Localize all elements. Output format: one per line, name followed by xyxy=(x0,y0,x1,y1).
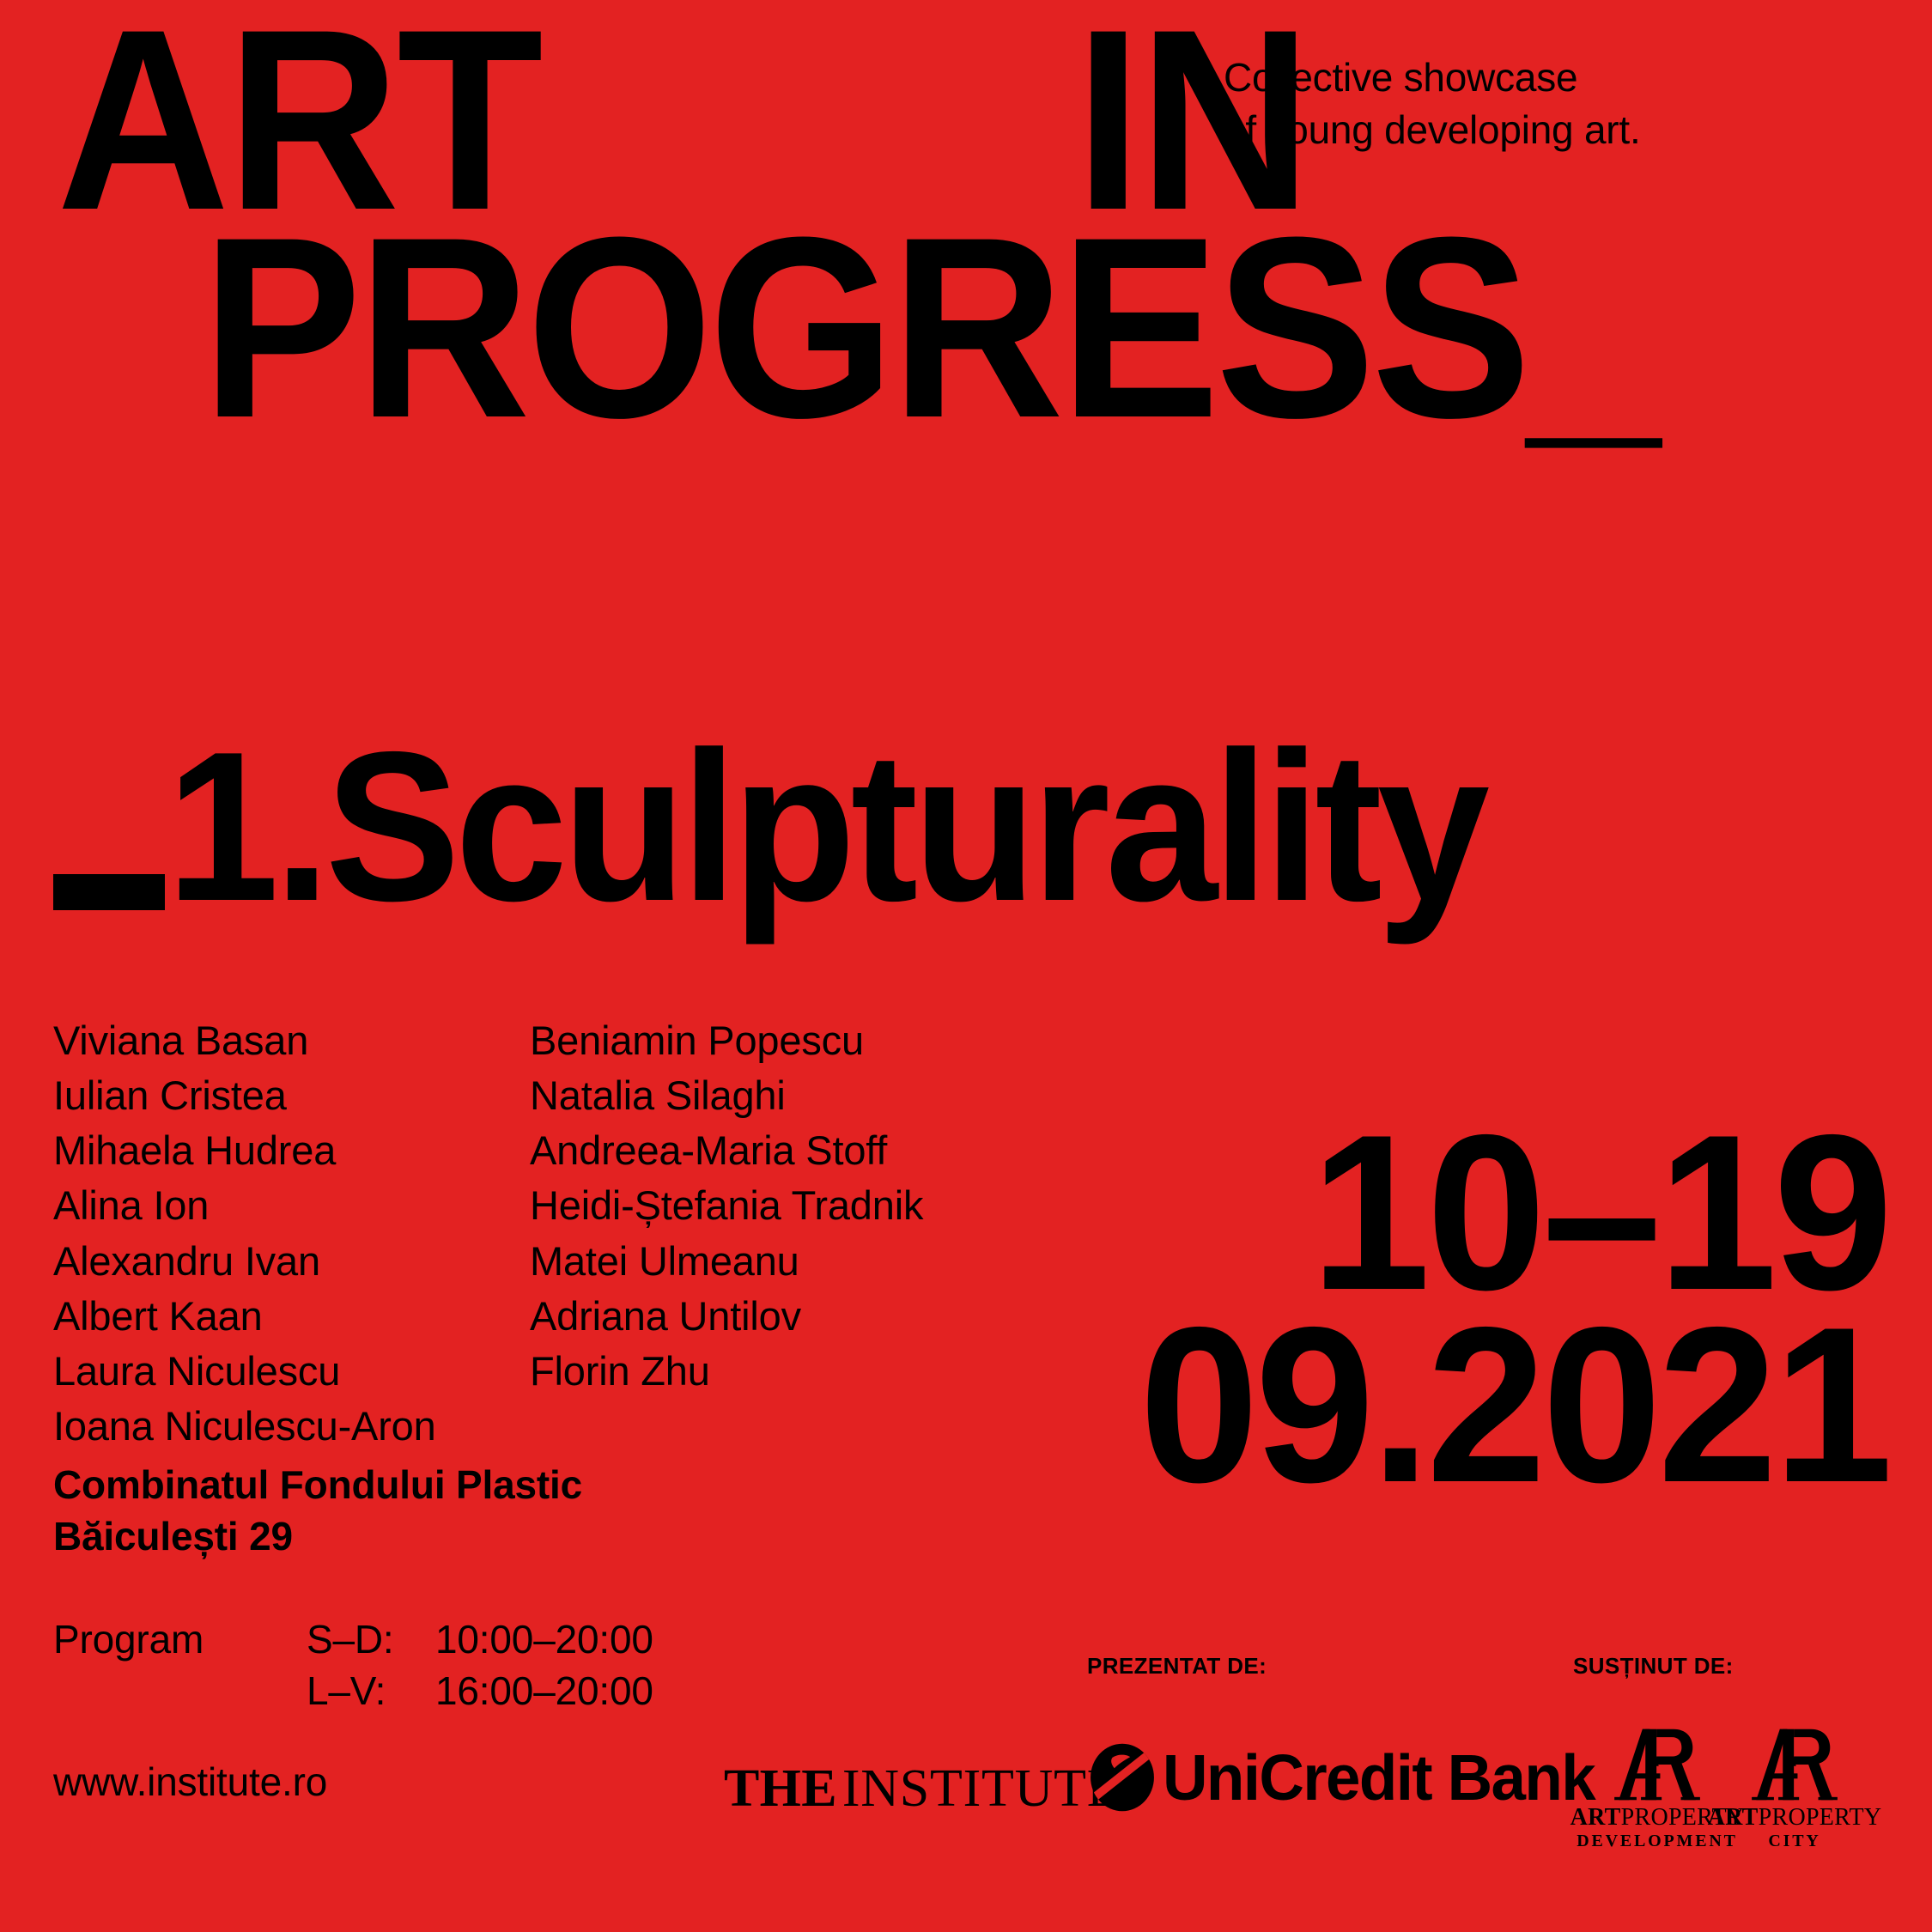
list-item: Laura Niculescu xyxy=(53,1344,530,1399)
artproperty-word-property: PROPERTY xyxy=(1759,1804,1882,1831)
the-institute-logo[interactable]: THEINSTITUTE xyxy=(724,1762,1120,1815)
list-item: Natalia Silaghi xyxy=(530,1068,1062,1123)
artist-column-1: Viviana Basan Iulian Cristea Mihaela Hud… xyxy=(53,1013,530,1454)
unicredit-wordmark: UniCredit Bank xyxy=(1163,1746,1595,1810)
supported-by-label: SUSȚINUT DE: xyxy=(1573,1653,1734,1680)
list-item: Andreea-Maria Stoff xyxy=(530,1123,1062,1178)
artproperty-word-art: ART xyxy=(1571,1804,1621,1831)
unicredit-mark-icon xyxy=(1089,1743,1156,1812)
artproperty-subtitle: CITY xyxy=(1696,1830,1893,1852)
underscore-rule-icon xyxy=(53,874,165,910)
list-item: Beniamin Popescu xyxy=(530,1013,1062,1068)
list-item: Iulian Cristea xyxy=(53,1068,530,1123)
list-item: Heidi-Ștefania Tradnik xyxy=(530,1178,1062,1233)
venue-info: Combinatul Fondului Plastic Băiculești 2… xyxy=(53,1460,582,1563)
subtitle-text: 1.Sculpturality xyxy=(167,720,1485,933)
venue-address: Băiculești 29 xyxy=(53,1511,582,1563)
date-month-year: 09.2021 xyxy=(1040,1309,1889,1501)
program-hours-1: 10:00–20:00 xyxy=(435,1614,653,1666)
title-word-progress: PROGRESS_ xyxy=(202,227,1656,428)
poster-canvas: ART IN PROGRESS_ Collective showcase of … xyxy=(0,0,1932,1932)
website-url[interactable]: www.institute.ro xyxy=(53,1759,327,1805)
list-item: Alexandru Ivan xyxy=(53,1234,530,1289)
tagline: Collective showcase of young developing … xyxy=(1224,52,1641,155)
institute-word-institute: INSTITUTE xyxy=(842,1759,1121,1818)
artproperty-monogram-icon xyxy=(1613,1728,1702,1801)
list-item: Alina Ion xyxy=(53,1178,530,1233)
list-item: Viviana Basan xyxy=(53,1013,530,1068)
program-hours-2: 16:00–20:00 xyxy=(435,1666,653,1717)
program-days-1: S–D: xyxy=(307,1614,435,1666)
institute-word-the: THE xyxy=(724,1759,837,1818)
list-item: Adriana Untilov xyxy=(530,1289,1062,1344)
program-days-2: L–V: xyxy=(307,1666,435,1717)
event-dates: 10–19 09.2021 xyxy=(1013,1116,1889,1502)
artproperty-monogram-icon xyxy=(1750,1728,1839,1801)
presented-by-label: PREZENTAT DE: xyxy=(1087,1653,1267,1680)
subtitle: 1.Sculpturality xyxy=(53,720,1554,933)
artproperty-wordmark: ARTPROPERTY xyxy=(1696,1805,1893,1830)
list-item: Ioana Niculescu-Aron xyxy=(53,1399,530,1454)
program-label: Program xyxy=(53,1614,307,1666)
artproperty-city-logo[interactable]: ARTPROPERTY CITY xyxy=(1696,1728,1893,1852)
tagline-line-1: Collective showcase xyxy=(1224,52,1641,104)
title-line-2: PROGRESS_ xyxy=(202,227,1829,428)
tagline-line-2: of young developing art. xyxy=(1224,104,1641,156)
unicredit-bank-logo[interactable]: UniCredit Bank xyxy=(1089,1743,1608,1812)
artist-column-2: Beniamin Popescu Natalia Silaghi Andreea… xyxy=(530,1013,1062,1454)
program-schedule: Program S–D: 10:00–20:00 L–V: 16:00–20:0… xyxy=(53,1614,653,1717)
artist-list: Viviana Basan Iulian Cristea Mihaela Hud… xyxy=(53,1013,1062,1454)
venue-name: Combinatul Fondului Plastic xyxy=(53,1460,582,1511)
list-item: Matei Ulmeanu xyxy=(530,1234,1062,1289)
artproperty-word-art: ART xyxy=(1708,1804,1759,1831)
list-item: Florin Zhu xyxy=(530,1344,1062,1399)
list-item: Mihaela Hudrea xyxy=(53,1123,530,1178)
list-item: Albert Kaan xyxy=(53,1289,530,1344)
